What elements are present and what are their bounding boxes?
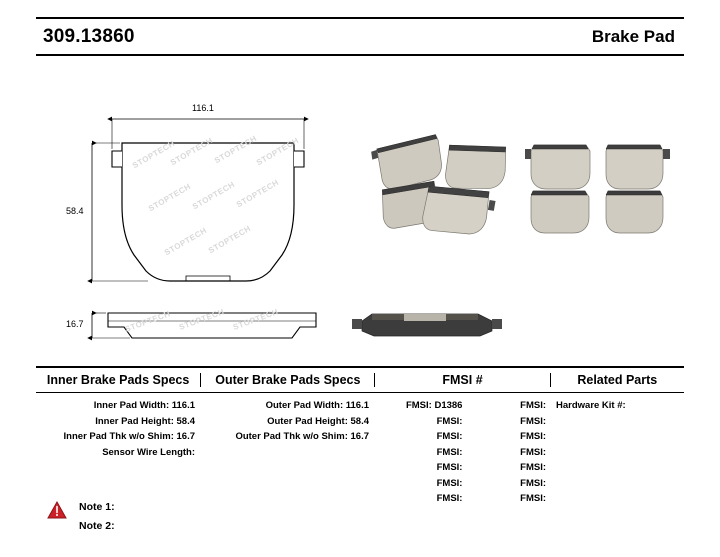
warning-triangle-icon: [47, 501, 67, 519]
technical-drawing-area: 116.1 58.4 16.7 STOPTECH STOPTECH STOPTE…: [0, 55, 720, 355]
table-row: Inner Pad Thk w/o Shim: 16.7: [36, 429, 201, 445]
dimension-height-label: 58.4: [66, 206, 84, 216]
fmsi-left-value: FMSI:: [375, 491, 466, 507]
note-1: Note 1:: [79, 498, 115, 517]
table-row: Outer Pad Height: 58.4: [201, 414, 375, 430]
table-row: Sensor Wire Length:: [36, 445, 201, 461]
pad-front-view: [112, 143, 304, 281]
column-header-fmsi: FMSI #: [374, 373, 549, 387]
table-row: FMSI: FMSI:: [375, 476, 550, 492]
fmsi-right-value: FMSI:: [466, 460, 550, 476]
column-header-related: Related Parts: [550, 373, 684, 387]
product-photo-right-cluster: [525, 145, 670, 233]
fmsi-right-value: FMSI:: [466, 398, 550, 414]
table-row: FMSI: FMSI:: [375, 445, 550, 461]
pad-side-view: [108, 313, 316, 338]
fmsi-column: FMSI: D1386 FMSI: FMSI: FMSI: FMSI: FMSI…: [375, 398, 550, 507]
product-photo-left-cluster: [370, 134, 508, 240]
table-row: Inner Pad Height: 58.4: [36, 414, 201, 430]
table-row: FMSI: FMSI:: [375, 429, 550, 445]
fmsi-left-value: FMSI:: [375, 445, 466, 461]
table-row: FMSI: FMSI:: [375, 460, 550, 476]
notes-text-block: Note 1: Note 2:: [79, 498, 115, 536]
specs-table-header: Inner Brake Pads Specs Outer Brake Pads …: [36, 366, 684, 393]
dimension-thickness-label: 16.7: [66, 319, 84, 329]
specs-table-body: Inner Pad Width: 116.1 Inner Pad Height:…: [36, 393, 684, 507]
note-2: Note 2:: [79, 517, 115, 536]
table-row: Outer Pad Width: 116.1: [201, 398, 375, 414]
page-title: Brake Pad: [592, 27, 684, 47]
part-number: 309.13860: [36, 26, 135, 48]
product-photo-side-profile: [352, 314, 502, 336]
dimension-width-label: 116.1: [192, 103, 214, 113]
table-row: FMSI: FMSI:: [375, 414, 550, 430]
fmsi-left-value: FMSI: D1386: [375, 398, 466, 414]
fmsi-right-value: FMSI:: [466, 476, 550, 492]
specs-table: Inner Brake Pads Specs Outer Brake Pads …: [36, 366, 684, 507]
table-row: FMSI: D1386 FMSI:: [375, 398, 550, 414]
drawing-svg: [0, 55, 720, 355]
fmsi-right-value: FMSI:: [466, 491, 550, 507]
related-parts-column: Hardware Kit #:: [550, 398, 684, 507]
inner-specs-column: Inner Pad Width: 116.1 Inner Pad Height:…: [36, 398, 201, 507]
fmsi-right-value: FMSI:: [466, 414, 550, 430]
table-row: Inner Pad Width: 116.1: [36, 398, 201, 414]
table-row: Hardware Kit #:: [550, 398, 684, 414]
fmsi-right-value: FMSI:: [466, 429, 550, 445]
brake-pad-spec-sheet: 309.13860 Brake Pad: [0, 0, 720, 557]
column-header-outer: Outer Brake Pads Specs: [200, 373, 374, 387]
outer-specs-column: Outer Pad Width: 116.1 Outer Pad Height:…: [201, 398, 375, 507]
fmsi-left-value: FMSI:: [375, 460, 466, 476]
document-header: 309.13860 Brake Pad: [36, 17, 684, 56]
fmsi-left-value: FMSI:: [375, 476, 466, 492]
table-row: FMSI: FMSI:: [375, 491, 550, 507]
notes-section: Note 1: Note 2:: [47, 498, 115, 536]
fmsi-left-value: FMSI:: [375, 414, 466, 430]
table-row: Outer Pad Thk w/o Shim: 16.7: [201, 429, 375, 445]
fmsi-right-value: FMSI:: [466, 445, 550, 461]
fmsi-left-value: FMSI:: [375, 429, 466, 445]
column-header-inner: Inner Brake Pads Specs: [36, 373, 200, 387]
